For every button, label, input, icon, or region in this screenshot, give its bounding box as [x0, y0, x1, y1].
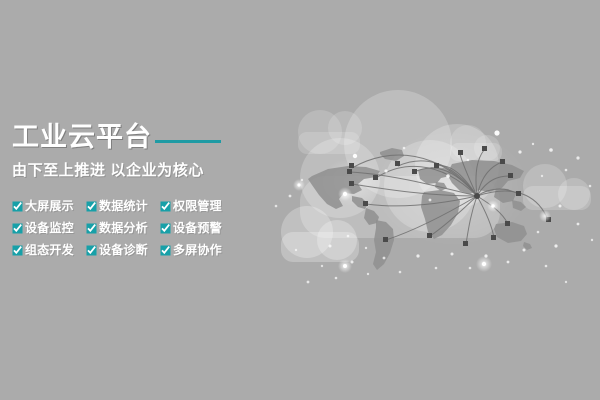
feature-label: 大屏展示	[25, 199, 74, 213]
feature-item[interactable]: 权限管理	[160, 199, 234, 213]
feature-item[interactable]: 设备诊断	[86, 243, 160, 257]
feature-item[interactable]: 多屏协作	[160, 243, 234, 257]
feature-item[interactable]: 数据统计	[86, 199, 160, 213]
check-box-icon	[86, 223, 97, 234]
feature-item[interactable]: 设备预警	[160, 221, 234, 235]
feature-row: 组态开发 设备诊断	[12, 239, 272, 261]
check-box-icon	[12, 245, 23, 256]
feature-label: 设备预警	[173, 221, 222, 235]
feature-row: 设备监控 数据分析	[12, 217, 272, 239]
feature-label: 设备监控	[25, 221, 74, 235]
title-underline	[155, 140, 221, 143]
headline-block: 工业云平台 由下至上推进 以企业为核心 大屏展示	[12, 118, 272, 261]
feature-label: 数据分析	[99, 221, 148, 235]
feature-item[interactable]: 设备监控	[12, 221, 86, 235]
feature-row: 大屏展示 数据统计	[12, 195, 272, 217]
feature-checklist: 大屏展示 数据统计	[12, 195, 272, 261]
feature-label: 设备诊断	[99, 243, 148, 257]
feature-label: 组态开发	[25, 243, 74, 257]
check-box-icon	[86, 245, 97, 256]
check-box-icon	[12, 201, 23, 212]
page-title: 工业云平台	[12, 122, 152, 152]
subtitle: 由下至上推进 以企业为核心	[12, 161, 272, 180]
feature-label: 权限管理	[173, 199, 222, 213]
check-box-icon	[160, 201, 171, 212]
title-row: 工业云平台	[12, 118, 272, 152]
industrial-cloud-platform-banner: 工业云平台 由下至上推进 以企业为核心 大屏展示	[0, 0, 600, 400]
check-box-icon	[160, 223, 171, 234]
check-box-icon	[160, 245, 171, 256]
check-box-icon	[12, 223, 23, 234]
feature-label: 数据统计	[99, 199, 148, 213]
feature-item[interactable]: 组态开发	[12, 243, 86, 257]
feature-label: 多屏协作	[173, 243, 222, 257]
feature-item[interactable]: 大屏展示	[12, 199, 86, 213]
check-box-icon	[86, 201, 97, 212]
feature-item[interactable]: 数据分析	[86, 221, 160, 235]
